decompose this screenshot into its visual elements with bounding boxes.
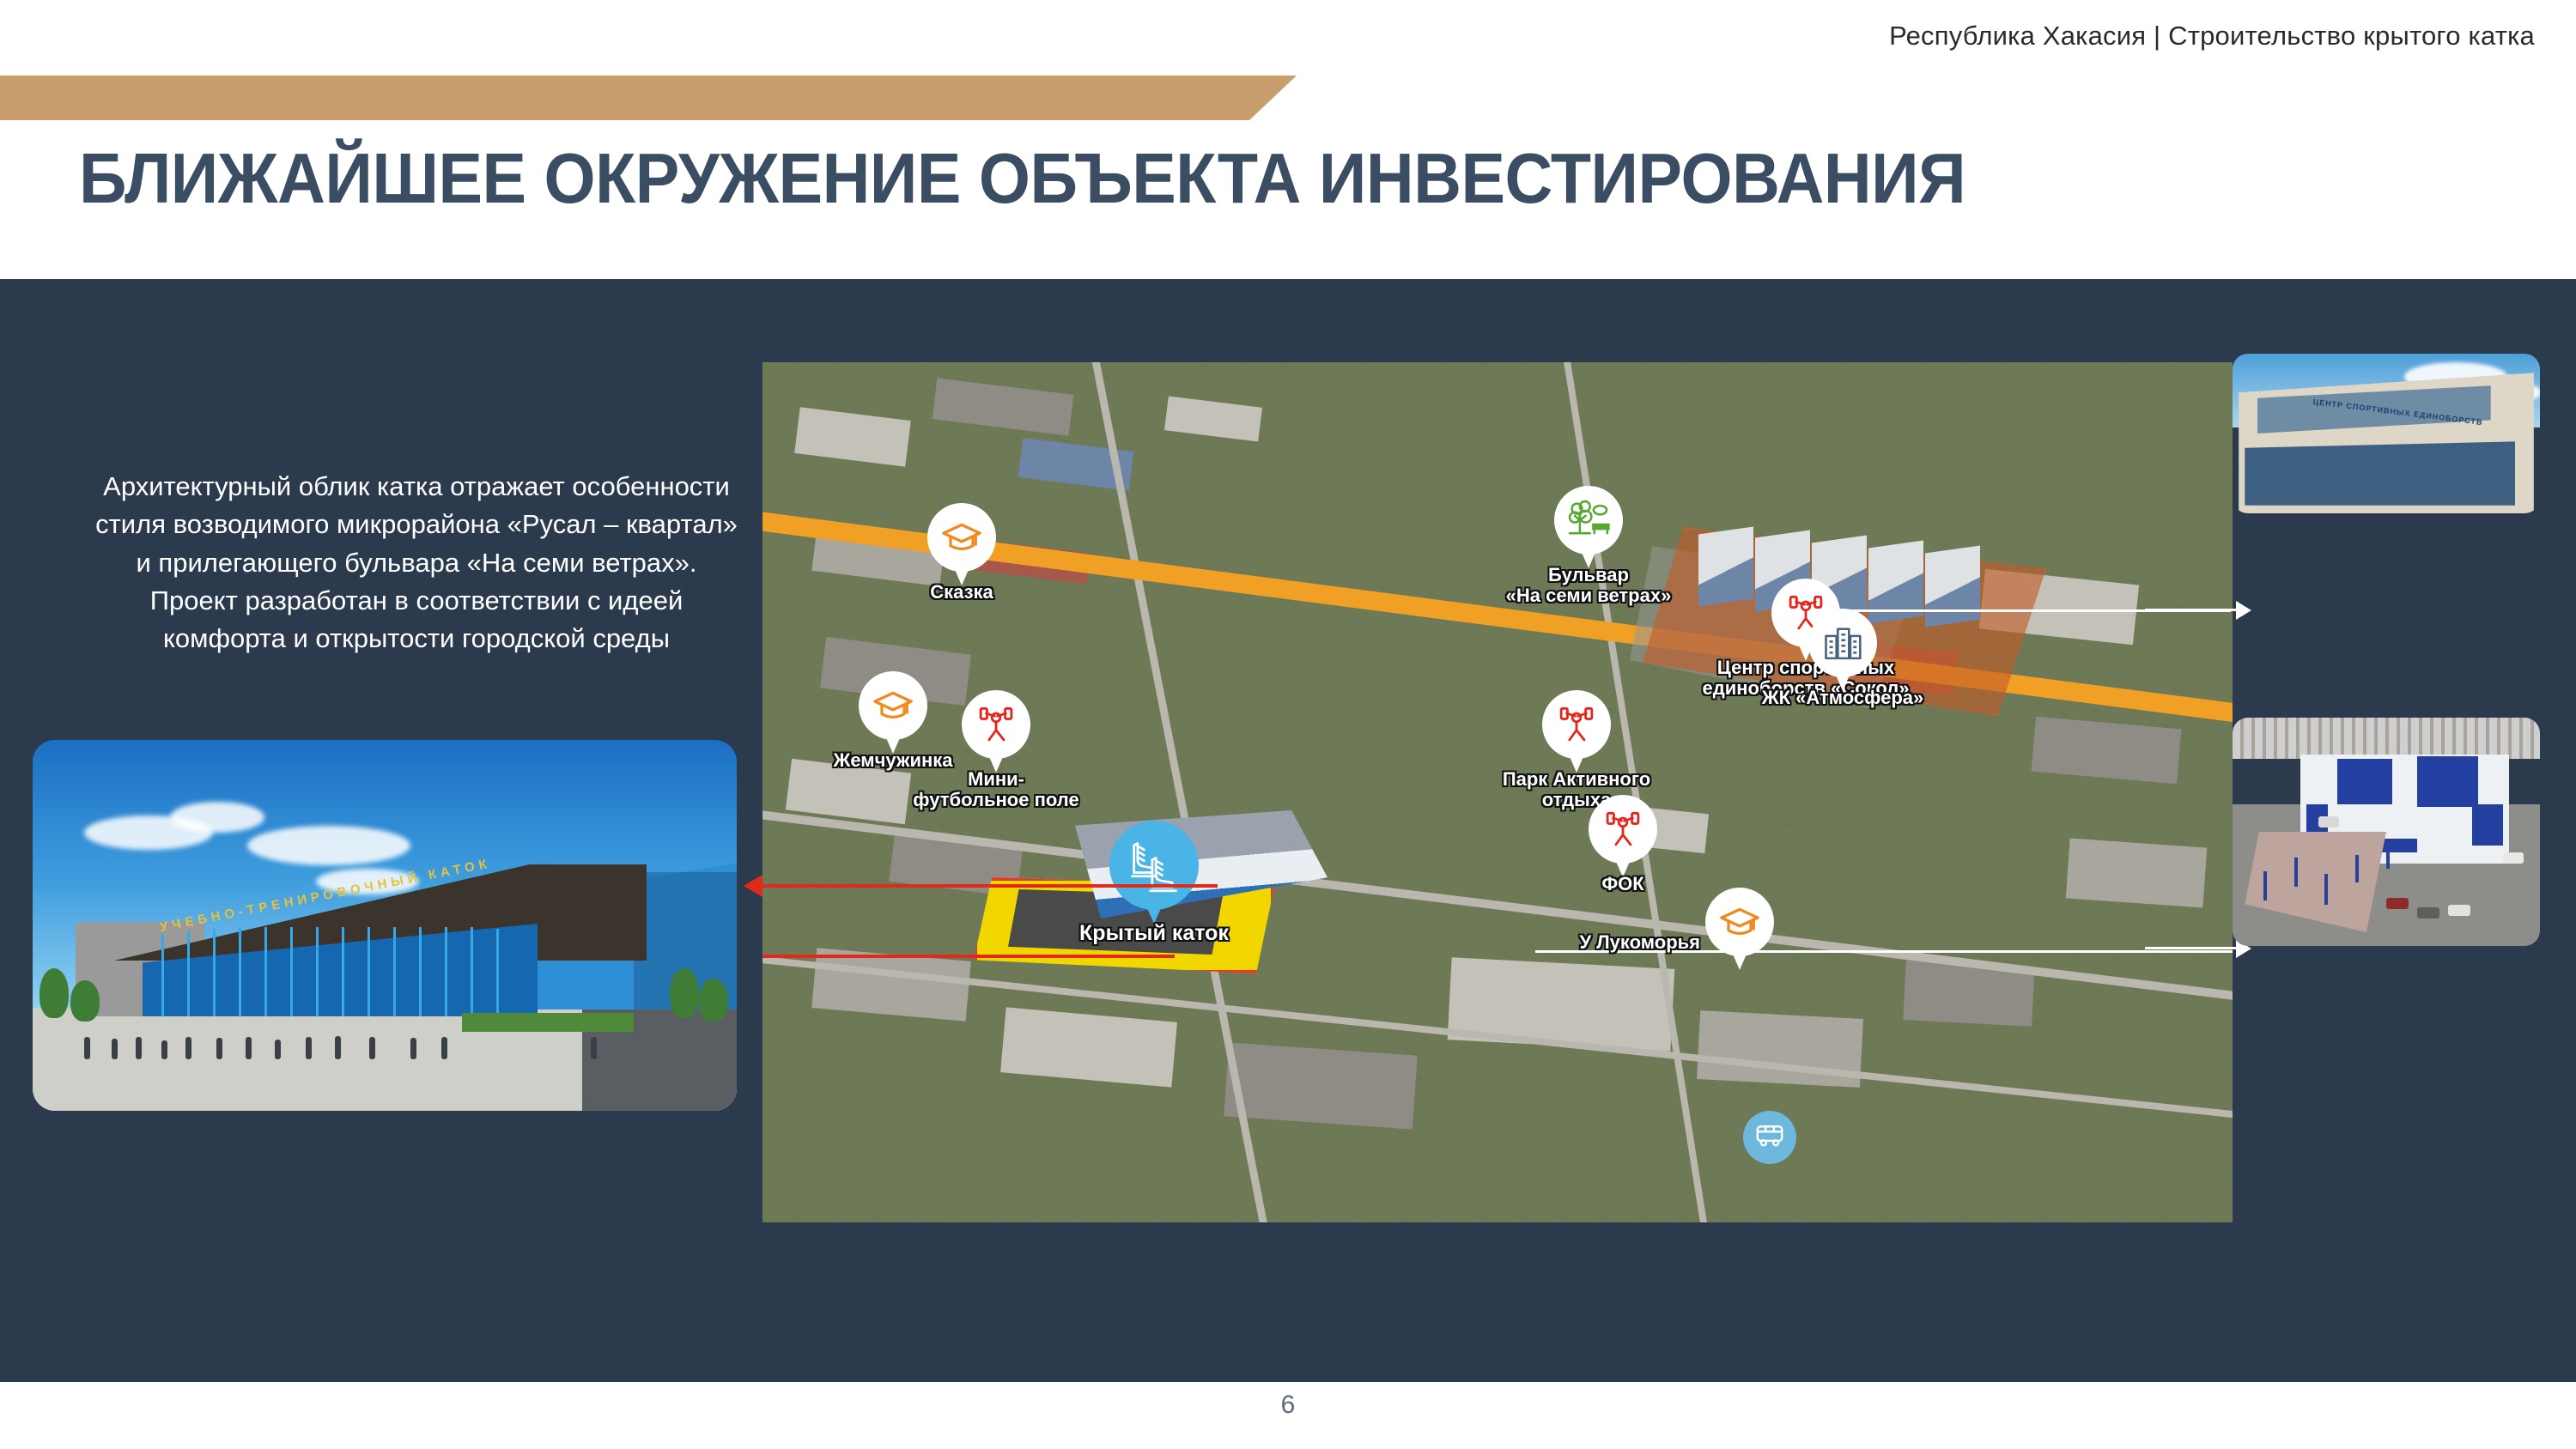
tree-icon [670, 968, 699, 1018]
apartment-building-icon [1808, 609, 1877, 677]
page-title: БЛИЖАЙШЕЕ ОКРУЖЕНИЕ ОБЪЕКТА ИНВЕСТИРОВАН… [79, 137, 1965, 220]
photo-city-skyline [2233, 718, 2540, 759]
bus-icon [1753, 1119, 1786, 1156]
map-marker-label: Бульвар«На семи ветрах» [1506, 565, 1672, 606]
arrow-to-render [744, 875, 762, 897]
park-trees-icon [1554, 486, 1623, 555]
weightlifter-icon [962, 690, 1030, 759]
photo-sokol-center: ЦЕНТР СПОРТИВНЫХ ЕДИНОБОРСТВ [2233, 354, 2540, 513]
map-marker-label: У Лукоморья [1579, 932, 1700, 953]
tree-icon [699, 979, 728, 1022]
gold-accent-bar [0, 76, 1297, 120]
leader-line-rink [762, 955, 1175, 958]
tree-icon [39, 968, 69, 1018]
map-marker-label: Мини-футбольное поле [913, 769, 1078, 810]
map-marker-label: ФОК [1601, 874, 1643, 894]
page-number: 6 [1281, 1391, 1296, 1420]
weightlifter-icon [1542, 690, 1611, 759]
weightlifter-icon [1589, 795, 1657, 864]
render-lawn [462, 1013, 634, 1032]
graduation-cap-icon [927, 503, 996, 572]
cloud-icon [247, 826, 410, 865]
aerial-map[interactable]: Центр спортивныхединоборств «Сокол» Буль… [762, 362, 2233, 1222]
graduation-cap-icon [859, 671, 927, 740]
ice-skates-icon [1109, 821, 1199, 910]
map-marker-label: ЖК «Атмосфера» [1762, 688, 1924, 708]
leader-line-top-photo [2145, 609, 2239, 611]
slide-header: Республика Хакасия | Строительство крыто… [0, 0, 2576, 76]
graduation-cap-icon [1705, 888, 1774, 956]
rink-render-image: УЧЕБНО-ТРЕНИРОВОЧНЫЙ КАТОК [33, 740, 737, 1111]
map-marker-busstop[interactable] [1743, 1111, 1796, 1164]
photo-fok-complex [2233, 718, 2540, 946]
sokol-lower-glazing [2245, 441, 2515, 505]
cloud-icon [170, 802, 264, 833]
map-marker-label: Жемчужинка [833, 750, 952, 771]
map-marker-label: Крытый каток [1079, 922, 1229, 945]
map-marker-label: Сказка [930, 582, 993, 603]
breadcrumb: Республика Хакасия | Строительство крыто… [1889, 21, 2535, 52]
leader-line-bottom-photo [2145, 947, 2239, 949]
lead-paragraph: Архитектурный облик катка отражает особе… [90, 468, 743, 658]
leader-line-render-segment [762, 884, 1218, 888]
tree-icon [70, 980, 100, 1022]
